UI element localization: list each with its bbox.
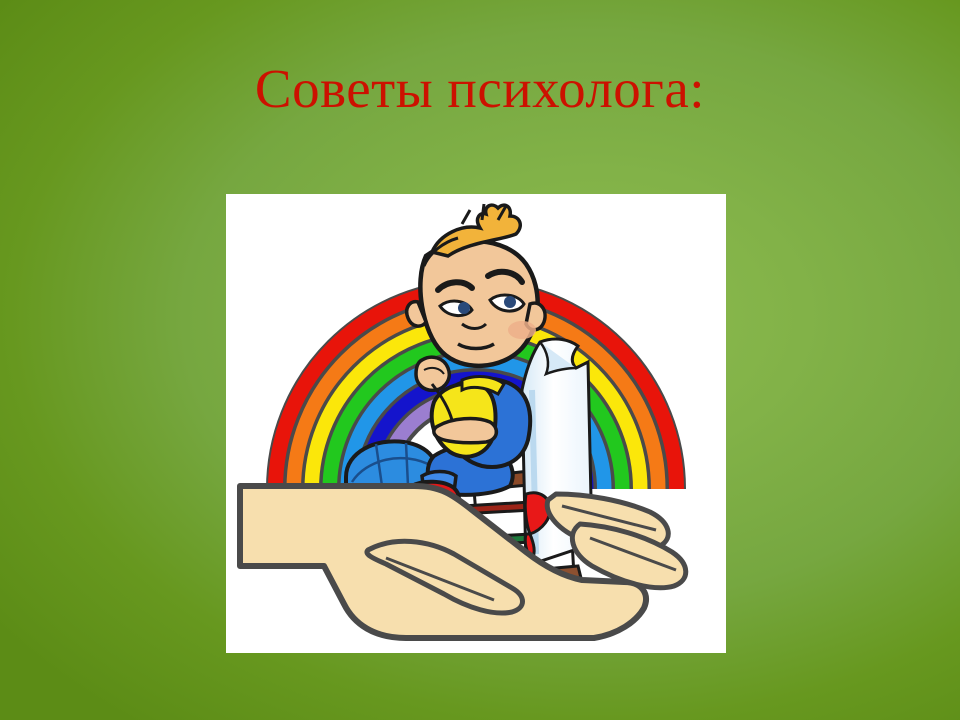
rainbow-boy-illustration [226,194,726,653]
page-title: Советы психолога: [0,58,960,120]
presentation-slide: Советы психолога: [0,0,960,720]
open-hand [240,486,686,638]
illustration-panel [226,194,726,653]
